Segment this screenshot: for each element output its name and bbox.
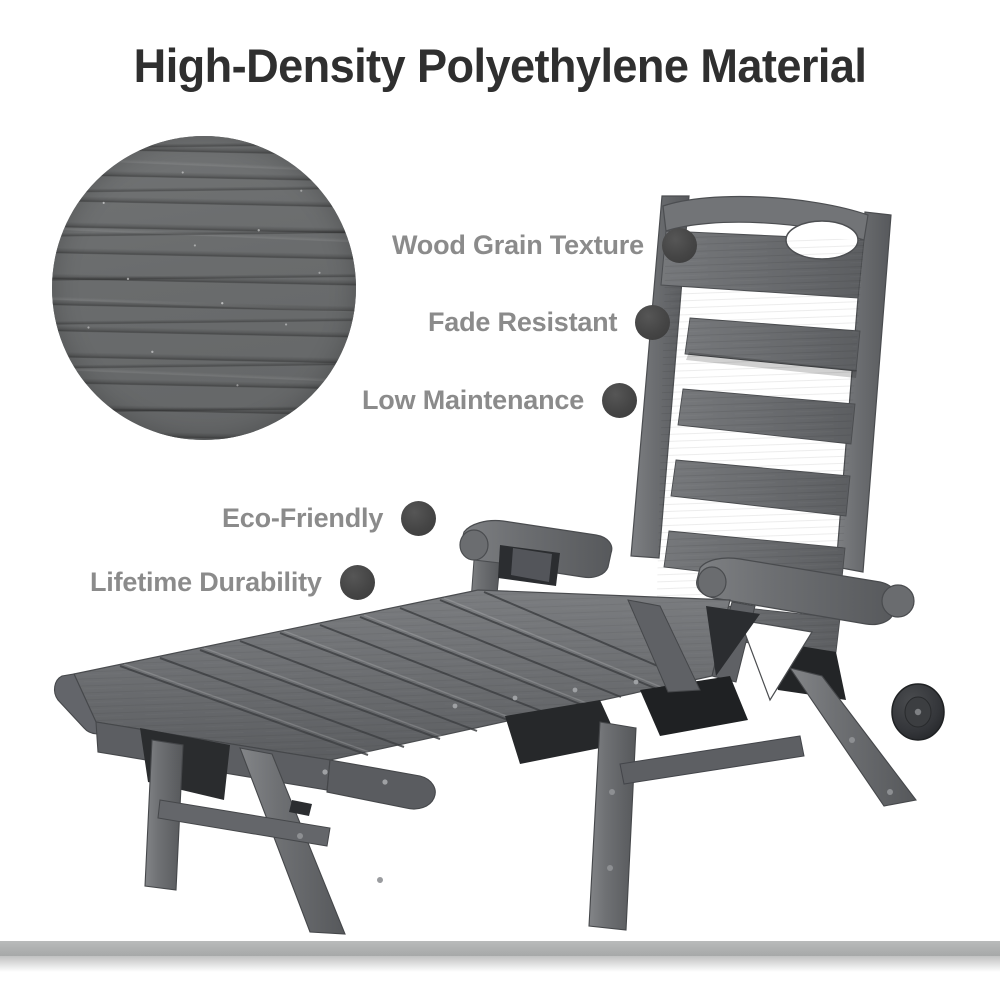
- feature-label: Lifetime Durability: [90, 567, 322, 598]
- bullet-dot-icon: [340, 565, 375, 600]
- chair-seat-slats: [55, 590, 755, 809]
- bullet-dot-icon: [401, 501, 436, 536]
- page-title: High-Density Polyethylene Material: [20, 38, 980, 93]
- feature-label: Low Maintenance: [362, 385, 584, 416]
- feature-lifetime-durability: Lifetime Durability: [90, 565, 375, 600]
- feature-low-maintenance: Low Maintenance: [362, 383, 637, 418]
- texture-vignette: [52, 136, 356, 440]
- chair-armrest-right: [697, 558, 914, 625]
- floor-band: [0, 941, 1000, 956]
- feature-label: Eco-Friendly: [222, 503, 383, 534]
- chair-legs: [145, 606, 916, 934]
- chair-screws: [260, 672, 693, 785]
- chair-backrest: [631, 196, 891, 652]
- feature-label: Fade Resistant: [428, 307, 617, 338]
- bullet-dot-icon: [662, 228, 697, 263]
- wood-grain-texture-swatch: [52, 136, 356, 440]
- feature-wood-grain-texture: Wood Grain Texture: [392, 228, 697, 263]
- bullet-dot-icon: [602, 383, 637, 418]
- chair-under-shadow: [140, 640, 846, 800]
- chair-wheel: [892, 684, 944, 740]
- chair-back-support: [628, 600, 700, 692]
- product-feature-image: High-Density Polyethylene Material: [0, 0, 1000, 1000]
- bullet-dot-icon: [635, 305, 670, 340]
- feature-fade-resistant: Fade Resistant: [428, 305, 670, 340]
- feature-label: Wood Grain Texture: [392, 230, 644, 261]
- feature-eco-friendly: Eco-Friendly: [222, 501, 436, 536]
- floor-shadow: [0, 956, 1000, 972]
- chair-armrest: [460, 521, 612, 646]
